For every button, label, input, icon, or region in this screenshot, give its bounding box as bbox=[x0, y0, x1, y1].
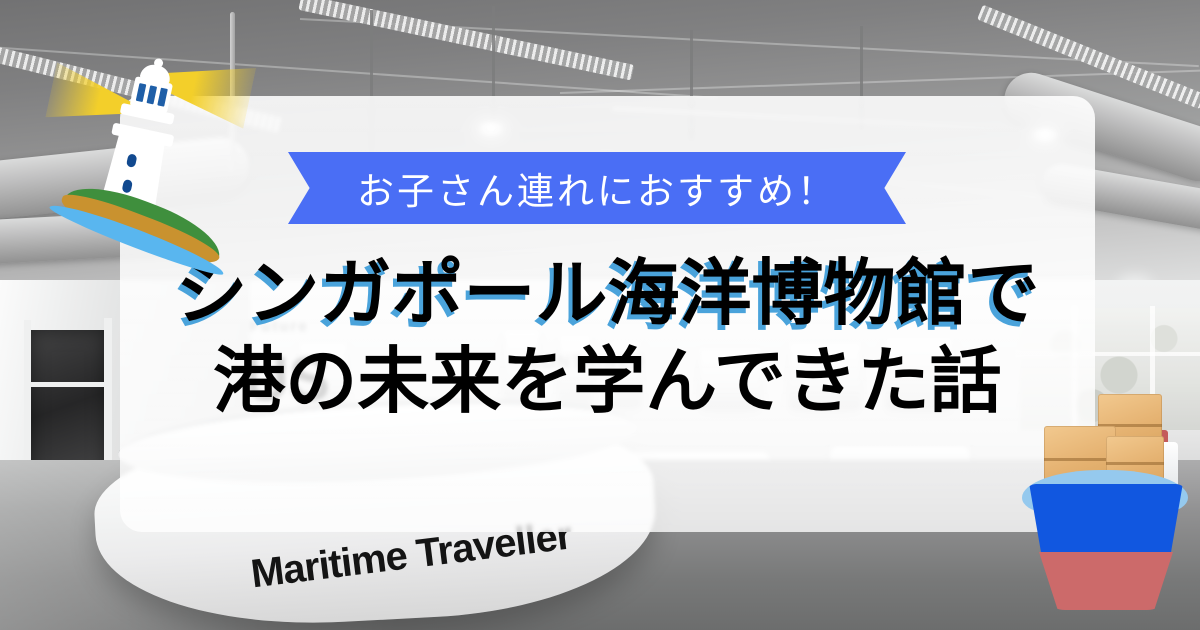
ribbon-label: お子さん連れにおすすめ！ bbox=[357, 161, 837, 215]
ship-hull-upper bbox=[1026, 484, 1186, 558]
ship-hull-lower bbox=[1039, 552, 1173, 610]
mullion bbox=[28, 382, 108, 387]
headline-line-2: 港の未来を学んできた話 bbox=[120, 338, 1095, 426]
lighthouse-icon bbox=[28, 22, 228, 232]
ship-icon bbox=[1014, 392, 1196, 592]
lighthouse-beam-left-icon bbox=[45, 62, 137, 134]
lantern-pane bbox=[146, 85, 157, 104]
ribbon-badge: お子さん連れにおすすめ！ bbox=[288, 152, 906, 224]
lantern-pane bbox=[157, 88, 168, 107]
headline-line-1: シンガポール海洋博物館で bbox=[120, 250, 1095, 338]
og-image-canvas: US Future CONTAINED Maritime Traveller お… bbox=[0, 0, 1200, 630]
cargo-tape bbox=[1106, 462, 1164, 465]
lantern-pane bbox=[135, 83, 146, 102]
headline-block: シンガポール海洋博物館で 港の未来を学んできた話 bbox=[120, 250, 1095, 426]
